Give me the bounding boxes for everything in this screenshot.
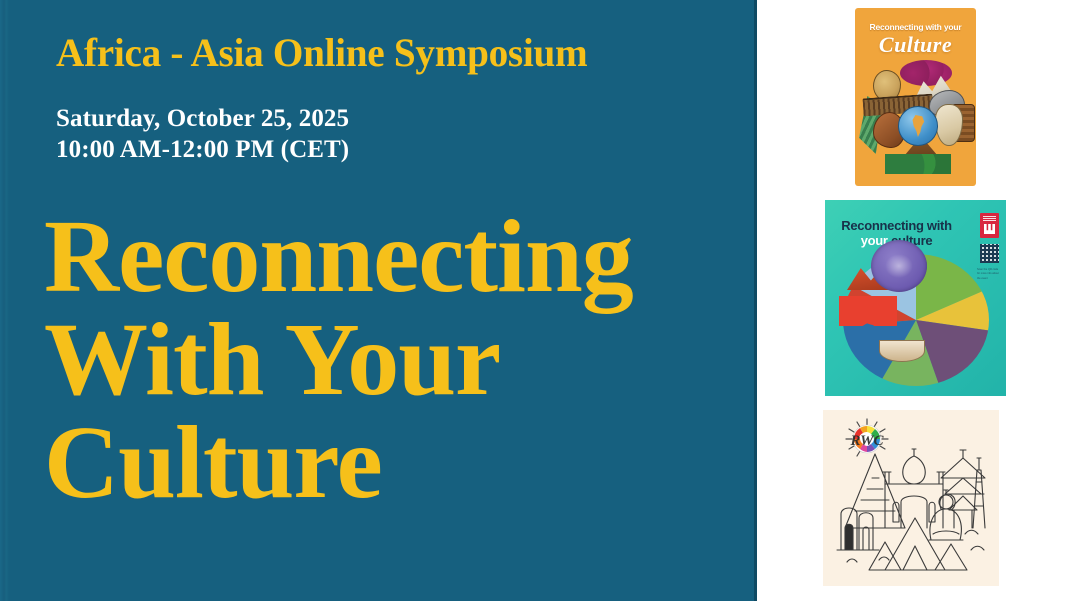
- poster-gallery: Reconnecting with your Culture Reconnect…: [757, 0, 1068, 601]
- event-date: Saturday, October 25, 2025: [56, 104, 349, 135]
- title-line-3: Culture: [44, 412, 744, 515]
- title-line-2: With Your: [44, 309, 744, 412]
- rwc-logo-icon: RWC: [845, 418, 889, 460]
- title-line-1: Reconnecting: [44, 206, 744, 309]
- foliage-illustration: [885, 154, 951, 174]
- teal-culture-poster-image: Reconnecting with your culture Scan the …: [825, 200, 1006, 396]
- africa-continent-shape: [911, 115, 926, 137]
- asia-lineart-poster-image: RWC: [823, 410, 999, 586]
- svg-text:RWC: RWC: [849, 433, 884, 449]
- africa-poster-script-word: Culture: [855, 32, 976, 58]
- event-subtitle: Africa - Asia Online Symposium: [56, 32, 587, 74]
- africa-poster-headline: Reconnecting with your: [855, 22, 976, 32]
- event-time: 10:00 AM-12:00 PM (CET): [56, 135, 349, 166]
- symposium-slide: Africa - Asia Online Symposium Saturday,…: [0, 0, 1068, 601]
- event-datetime: Saturday, October 25, 2025 10:00 AM-12:0…: [56, 104, 349, 165]
- page-title: Reconnecting With Your Culture: [44, 206, 744, 515]
- africa-globe-icon: [898, 106, 938, 146]
- organisation-logo-badge: [980, 213, 999, 238]
- title-panel: Africa - Asia Online Symposium Saturday,…: [0, 0, 757, 601]
- badge-emblem-icon: [984, 224, 995, 234]
- boat-illustration: [879, 340, 925, 362]
- dancers-row-illustration: [839, 296, 897, 326]
- africa-poster-image: Reconnecting with your Culture: [855, 8, 976, 186]
- globe-center-icon: [871, 240, 927, 292]
- badge-text-lines: [983, 216, 996, 221]
- teal-poster-headline-line1: Reconnecting with: [825, 218, 968, 233]
